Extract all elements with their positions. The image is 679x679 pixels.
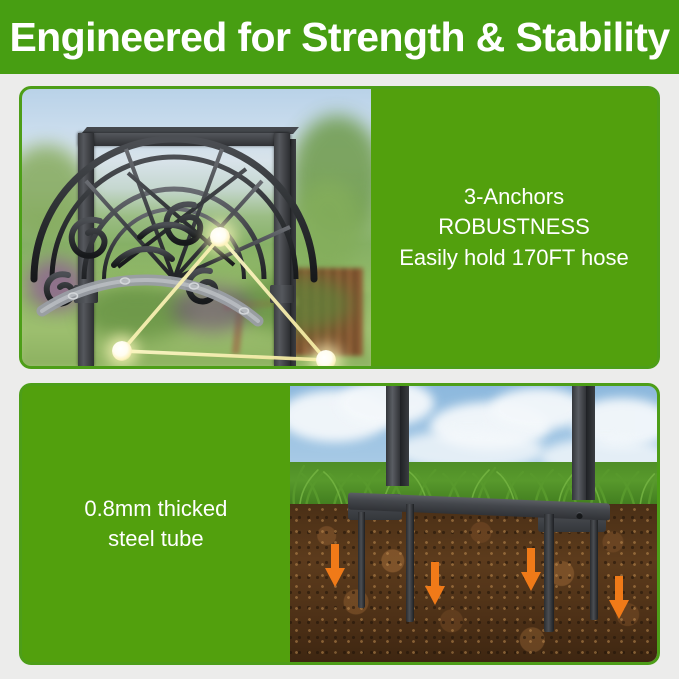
ground-stake [590,520,598,620]
bolt-hole [576,512,583,519]
anchors-photo [22,89,371,366]
ground-stake [544,514,554,632]
ground-cross-section-photo [290,386,657,662]
anchors-line-2: ROBUSTNESS [399,212,629,242]
anchors-text-block: 3-Anchors ROBUSTNESS Easily hold 170FT h… [393,182,635,273]
infographic-root: Engineered for Strength & Stability [0,0,679,679]
downward-force-arrow [520,548,542,592]
downward-force-arrow [324,544,346,588]
anchors-panel: 3-Anchors ROBUSTNESS Easily hold 170FT h… [19,86,660,369]
ground-stake [406,504,414,622]
anchor-point-right [316,350,336,366]
page-title: Engineered for Strength & Stability [9,17,669,58]
steel-tube-text-panel: 0.8mm thicked steel tube [22,386,290,662]
anchor-point-top [210,227,230,247]
frame-right-leg-shadow [586,386,595,500]
frame-left-leg-shadow [400,386,409,486]
downward-force-arrow [608,576,630,620]
anchors-line-1: 3-Anchors [399,182,629,212]
ground-stake [358,512,365,608]
steel-tube-line-2: steel tube [84,524,227,554]
scrollwork-arch-graphic [22,89,371,366]
header-banner: Engineered for Strength & Stability [0,0,679,74]
anchor-point-left [112,341,132,361]
steel-tube-line-1: 0.8mm thicked [84,494,227,524]
steel-tube-text-block: 0.8mm thicked steel tube [78,494,233,555]
anchors-line-3: Easily hold 170FT hose [399,243,629,273]
downward-force-arrow [424,562,446,606]
steel-tube-panel: 0.8mm thicked steel tube [19,383,660,665]
anchors-text-panel: 3-Anchors ROBUSTNESS Easily hold 170FT h… [371,89,657,366]
